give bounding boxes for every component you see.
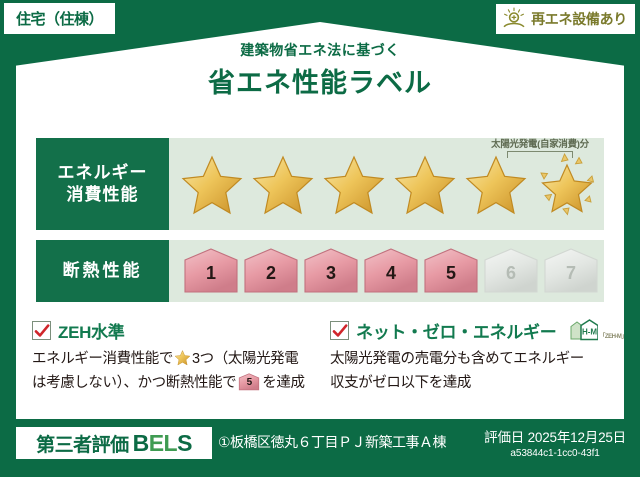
star-icon	[179, 151, 245, 217]
bels-third-party-mark: 第三者評価 BELS	[16, 427, 212, 459]
zeh-m-house-icon: H-M 「ZEH-M」	[564, 318, 627, 342]
solar-annotation-text: 太陽光発電(自家消費)分	[476, 136, 604, 150]
building-category-badge: 住宅（住棟）	[4, 3, 115, 34]
criterion-net-zero-energy: ネット・ゼロ・エネルギー H-M 「ZEH-M」 太陽光発電の売電分も含めてエネ…	[330, 318, 615, 396]
bels-wordmark: BELS	[133, 430, 192, 457]
solar-annotation-bracket	[507, 151, 573, 158]
insulation-grade-inline-badge: 5	[238, 373, 260, 391]
insulation-grade-value: 6	[483, 264, 539, 282]
renewable-equipment-label: 再エネ設備あり	[531, 9, 627, 29]
insulation-grade-value: 7	[543, 264, 599, 282]
criterion-nze-title: ネット・ゼロ・エネルギー	[356, 318, 556, 343]
solar-self-consumption-annotation: 太陽光発電(自家消費)分	[476, 136, 604, 158]
energy-label-line-1: エネルギー	[58, 162, 148, 184]
criterion-nze-header: ネット・ゼロ・エネルギー H-M 「ZEH-M」	[330, 318, 615, 342]
star-icon	[463, 151, 529, 217]
energy-consumption-rating-area: 太陽光発電(自家消費)分	[169, 138, 604, 230]
solar-star-icon	[534, 151, 600, 217]
insulation-grade-value: 2	[243, 264, 299, 282]
star-icon	[174, 349, 191, 366]
insulation-grade-value: 4	[363, 264, 419, 282]
criterion-zeh-header: ZEH水準	[32, 318, 322, 342]
insulation-grade-badge: 4	[363, 247, 419, 295]
label-subtitle: 建築物省エネ法に基づく	[0, 40, 640, 60]
zeh-desc-part-3: は考慮しない）、かつ断熱性能で	[32, 375, 236, 391]
criterion-nze-description: 太陽光発電の売電分も含めてエネルギー 収支がゼロ以下を達成	[330, 348, 615, 396]
nze-desc-line-2: 収支がゼロ以下を達成	[330, 375, 471, 391]
sun-icon	[501, 7, 527, 31]
insulation-grade-badge: 7	[543, 247, 599, 295]
nze-desc-line-1: 太陽光発電の売電分も含めてエネルギー	[330, 351, 584, 367]
insulation-grade-group: 1 2 3 4 5	[183, 240, 598, 302]
building-address: ①板橋区徳丸６丁目ＰＪ新築工事Ａ棟	[218, 432, 446, 452]
insulation-grade-badge: 1	[183, 247, 239, 295]
building-category-label: 住宅（住棟）	[16, 8, 103, 29]
renewable-equipment-badge: 再エネ設備あり	[496, 4, 635, 34]
insulation-grade-badge: 6	[483, 247, 539, 295]
insulation-grade-badge: 3	[303, 247, 359, 295]
star-icon	[321, 151, 387, 217]
star-icon	[250, 151, 316, 217]
insulation-grade-area: 1 2 3 4 5	[169, 240, 604, 302]
energy-label-line-2: 消費性能	[67, 184, 139, 206]
bels-letter-el: EL	[149, 430, 177, 456]
label-footer: 第三者評価 BELS ①板橋区徳丸６丁目ＰＪ新築工事Ａ棟 評価日 2025年12…	[0, 419, 640, 477]
insulation-grade-badge: 2	[243, 247, 299, 295]
energy-consumption-row: エネルギー 消費性能 太陽光発電(自家消費)分	[36, 138, 604, 230]
insulation-grade-value: 3	[303, 264, 359, 282]
insulation-grade-inline-value: 5	[238, 378, 260, 388]
checkbox-checked-icon	[32, 321, 51, 340]
bels-letter-b: B	[133, 430, 149, 456]
insulation-performance-row: 断熱性能 1 2	[36, 240, 604, 302]
evaluation-date: 評価日 2025年12月25日	[484, 426, 626, 446]
insulation-grade-value: 5	[423, 264, 479, 282]
criterion-zeh-standard: ZEH水準 エネルギー消費性能で3つ（太陽光発電 は考慮しない）、かつ断熱性能で…	[32, 318, 322, 396]
star-icon	[392, 151, 458, 217]
criterion-zeh-description: エネルギー消費性能で3つ（太陽光発電 は考慮しない）、かつ断熱性能で5を達成	[32, 348, 322, 396]
checkbox-checked-icon	[330, 321, 349, 340]
zeh-desc-part-4: を達成	[262, 375, 304, 391]
zeh-m-caption: 「ZEH-M」	[599, 331, 627, 342]
energy-consumption-label: エネルギー 消費性能	[36, 138, 169, 230]
evaluation-id: a53844c1-1cc0-43f1	[484, 448, 626, 459]
svg-text:H-M: H-M	[582, 328, 597, 337]
insulation-label-text: 断熱性能	[63, 260, 143, 282]
zeh-desc-part-2: 3つ（太陽光発電	[192, 351, 298, 367]
insulation-performance-label: 断熱性能	[36, 240, 169, 302]
evaluation-info: 評価日 2025年12月25日 a53844c1-1cc0-43f1	[484, 426, 626, 459]
bels-letter-s: S	[177, 430, 192, 456]
bels-jp-label: 第三者評価	[36, 430, 129, 457]
energy-performance-label: 住宅（住棟） 再エネ設備あり 建築物省エネ法に基づく 省エネ性能ラベル	[0, 0, 640, 477]
zeh-desc-part-1: エネルギー消費性能で	[32, 351, 173, 367]
insulation-grade-value: 1	[183, 264, 239, 282]
criterion-zeh-title: ZEH水準	[58, 318, 125, 343]
insulation-grade-badge: 5	[423, 247, 479, 295]
label-title: 省エネ性能ラベル	[0, 61, 640, 100]
